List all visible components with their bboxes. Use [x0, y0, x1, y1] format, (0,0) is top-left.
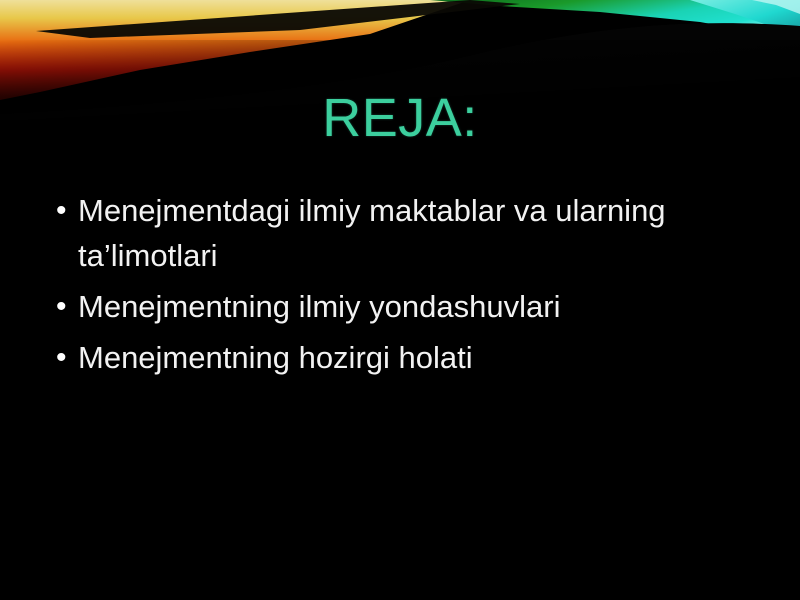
list-item-text: Menejmentning ilmiy yondashuvlari — [78, 284, 698, 329]
bullet-point-icon: • — [56, 188, 78, 233]
slide-title: REJA: — [0, 88, 800, 148]
banner-cyan-streak-1 — [690, 0, 800, 36]
list-item-text: Menejmentdagi ilmiy maktablar va ularnin… — [78, 188, 698, 278]
banner-cool-gradient — [430, 0, 800, 40]
banner-warm-gradient — [0, 0, 470, 100]
bullet-list: • Menejmentdagi ilmiy maktablar va ularn… — [56, 188, 746, 386]
list-item: • Menejmentning hozirgi holati — [56, 335, 746, 380]
list-item: • Menejmentning ilmiy yondashuvlari — [56, 284, 746, 329]
list-item: • Menejmentdagi ilmiy maktablar va ularn… — [56, 188, 746, 278]
banner-cyan-streak-2 — [752, 0, 800, 14]
banner-dark-sliver — [36, 0, 520, 38]
bullet-point-icon: • — [56, 335, 78, 380]
list-item-text: Menejmentning hozirgi holati — [78, 335, 698, 380]
bullet-point-icon: • — [56, 284, 78, 329]
presentation-slide: REJA: • Menejmentdagi ilmiy maktablar va… — [0, 0, 800, 600]
